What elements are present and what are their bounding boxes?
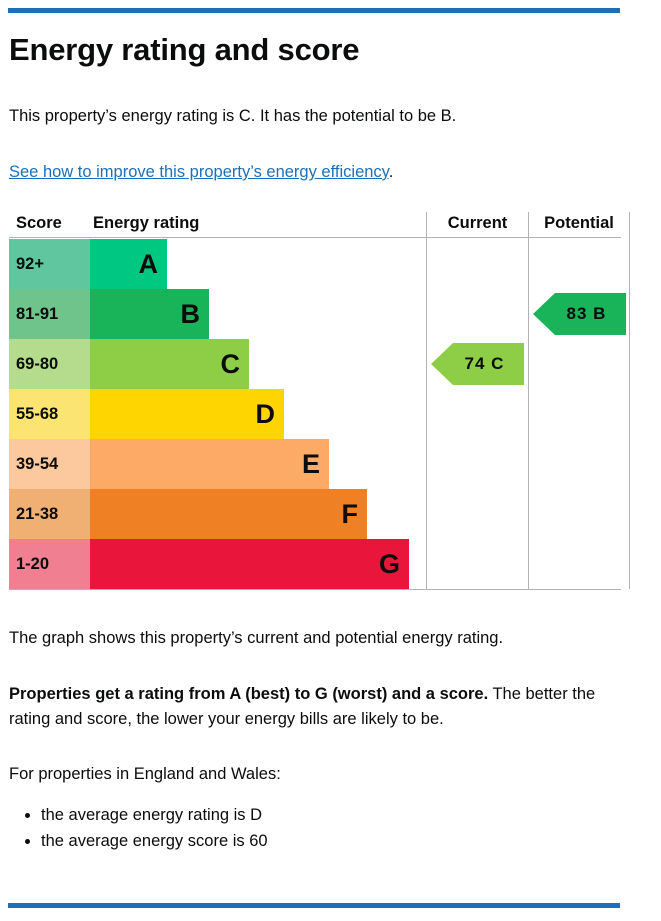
band-bar-b: B xyxy=(90,289,209,339)
column-header-current: Current xyxy=(427,212,528,234)
graph-description: The graph shows this property’s current … xyxy=(9,626,503,650)
rating-band-row-g: 1-20G xyxy=(9,539,426,589)
band-bar-f: F xyxy=(90,489,367,539)
rating-band-row-a: 92+A xyxy=(9,239,426,289)
band-score-range-e: 39-54 xyxy=(9,439,90,489)
column-header-potential: Potential xyxy=(529,212,629,234)
list-item: the average energy rating is D xyxy=(41,802,268,828)
band-bar-c: C xyxy=(90,339,249,389)
epc-table-body: 92+A81-91B69-80C55-68D39-54E21-38F1-20G7… xyxy=(9,238,621,590)
band-score-range-b: 81-91 xyxy=(9,289,90,339)
body-divider-3 xyxy=(629,238,630,589)
rating-band-row-e: 39-54E xyxy=(9,439,426,489)
improve-efficiency-link[interactable]: See how to improve this property’s energ… xyxy=(9,163,389,181)
current-rating-marker: 74 C xyxy=(431,343,524,385)
improve-efficiency-row: See how to improve this property’s energ… xyxy=(9,160,393,184)
improve-link-period: . xyxy=(389,163,394,181)
page-title: Energy rating and score xyxy=(9,31,359,69)
band-score-range-a: 92+ xyxy=(9,239,90,289)
body-divider-1 xyxy=(426,238,427,589)
band-bar-a: A xyxy=(90,239,167,289)
potential-rating-marker: 83 B xyxy=(533,293,626,335)
region-averages-list: the average energy rating is Dthe averag… xyxy=(9,802,268,854)
epc-table-header: Score Energy rating Current Potential xyxy=(9,212,621,238)
rating-band-row-c: 69-80C xyxy=(9,339,426,389)
intro-paragraph: This property’s energy rating is C. It h… xyxy=(9,104,456,128)
ratings-explanation-bold: Properties get a rating from A (best) to… xyxy=(9,685,488,703)
column-header-score: Score xyxy=(16,212,62,234)
column-header-energy-rating: Energy rating xyxy=(93,212,199,234)
band-score-range-d: 55-68 xyxy=(9,389,90,439)
band-bar-g: G xyxy=(90,539,409,589)
band-bar-e: E xyxy=(90,439,329,489)
region-intro: For properties in England and Wales: xyxy=(9,762,281,786)
ratings-explanation: Properties get a rating from A (best) to… xyxy=(9,682,625,732)
header-divider-3 xyxy=(629,212,630,238)
top-divider-rule xyxy=(8,8,620,13)
band-score-range-c: 69-80 xyxy=(9,339,90,389)
rating-band-row-d: 55-68D xyxy=(9,389,426,439)
list-item: the average energy score is 60 xyxy=(41,828,268,854)
rating-band-row-b: 81-91B xyxy=(9,289,426,339)
energy-rating-page: Energy rating and score This property’s … xyxy=(0,0,661,921)
band-score-range-g: 1-20 xyxy=(9,539,90,589)
epc-rating-table: Score Energy rating Current Potential 92… xyxy=(9,212,621,590)
band-score-range-f: 21-38 xyxy=(9,489,90,539)
body-divider-2 xyxy=(528,238,529,589)
rating-band-row-f: 21-38F xyxy=(9,489,426,539)
header-divider-1 xyxy=(426,212,427,238)
header-divider-2 xyxy=(528,212,529,238)
bottom-divider-rule xyxy=(8,903,620,908)
band-bar-d: D xyxy=(90,389,284,439)
